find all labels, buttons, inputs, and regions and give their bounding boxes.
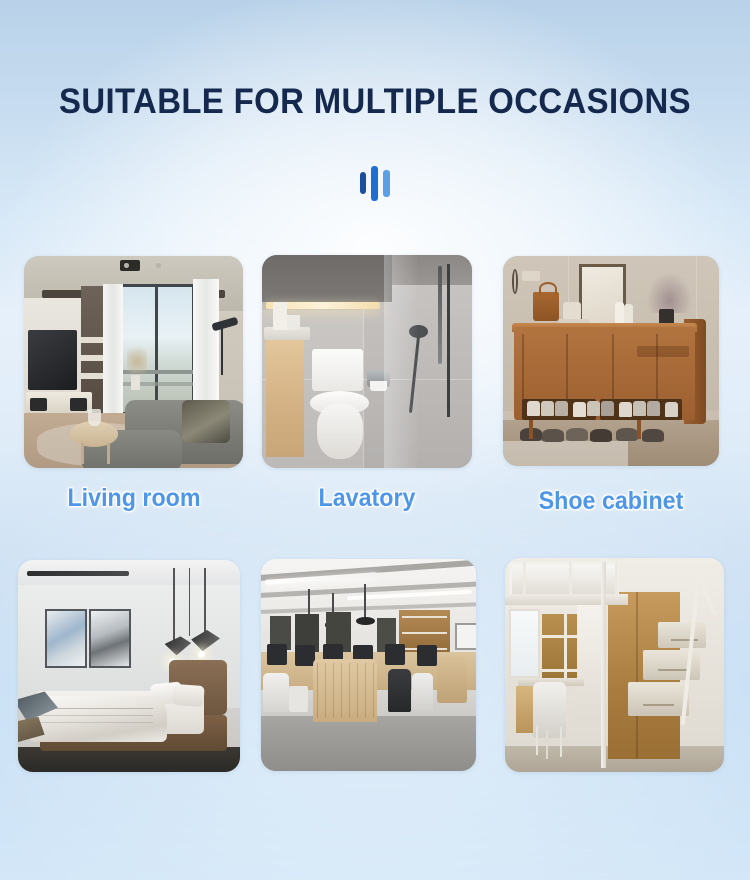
occasion-label-shoe-cabinet: Shoe cabinet (539, 487, 684, 516)
occasion-label-lavatory: Lavatory (319, 484, 416, 513)
lavatory-photo (262, 255, 472, 468)
promo-banner-page: SUITABLE FOR MULTIPLE OCCASIONS (0, 0, 750, 880)
student-dormitory-photo (505, 558, 724, 772)
occasion-card-student-dormitory[interactable]: Student dormitory (505, 558, 724, 772)
shoe-cabinet-photo (503, 256, 719, 466)
occasion-card-living-room[interactable]: Living room (24, 256, 243, 468)
occasion-card-office[interactable]: Office (261, 559, 476, 771)
occasion-card-shoe-cabinet[interactable]: Shoe cabinet (503, 256, 719, 466)
living-room-photo (24, 256, 243, 468)
three-bars-ornament (0, 163, 750, 203)
ornament-bar-1 (360, 172, 366, 194)
ornament-bar-3 (383, 170, 390, 197)
page-title: SUITABLE FOR MULTIPLE OCCASIONS (23, 82, 728, 122)
occasion-grid: Living room Lavatory (0, 252, 750, 852)
occasion-card-bedroom[interactable]: Bedroom (18, 560, 240, 772)
bedroom-photo (18, 560, 240, 772)
office-photo (261, 559, 476, 771)
occasion-label-living-room: Living room (67, 484, 200, 513)
ornament-bar-2 (371, 166, 378, 201)
occasion-card-lavatory[interactable]: Lavatory (262, 255, 472, 468)
